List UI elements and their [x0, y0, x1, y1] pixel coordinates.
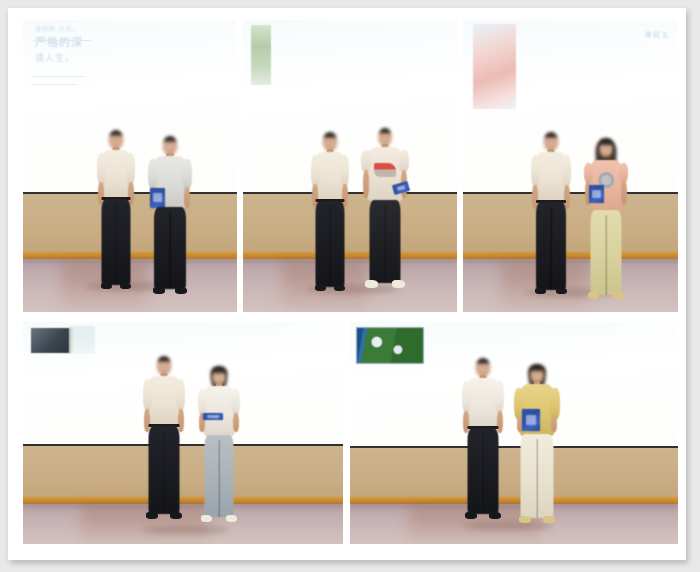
presenter: [95, 130, 137, 295]
forearm-right: [551, 417, 557, 432]
recipient: [147, 136, 193, 296]
slide-rule-1: [33, 40, 91, 41]
photo-5[interactable]: [350, 322, 678, 544]
certificate: [589, 185, 604, 203]
shoe-right: [613, 292, 624, 299]
arm-left: [143, 379, 152, 411]
shoe-left: [153, 287, 165, 294]
arm-right: [399, 150, 409, 172]
arm-right: [176, 379, 185, 411]
slide-text-line-1: 深刻的 方式。: [35, 26, 83, 35]
shoe-left: [101, 283, 112, 289]
trousers: [154, 207, 186, 289]
shoe-right: [556, 288, 567, 294]
arm-right: [495, 381, 504, 413]
sneaker-left: [365, 280, 378, 288]
slide-text-line-2: 严格的深: [35, 35, 83, 52]
forearm-right: [621, 181, 627, 205]
certificate: [522, 409, 540, 431]
photo-3[interactable]: 课程五: [463, 20, 678, 312]
forearm-right: [178, 409, 184, 432]
arm-left: [584, 163, 593, 183]
trousers: [536, 202, 566, 290]
shoe-right: [226, 515, 237, 522]
arm-right: [562, 155, 571, 187]
certificate: [150, 188, 165, 208]
gallery-row-top: 深刻的 方式。 严格的深 请人生。: [23, 20, 678, 312]
forearm-left: [463, 411, 469, 433]
shoe-left: [535, 288, 546, 294]
arm-left: [462, 381, 471, 413]
trousers: [149, 426, 180, 514]
certificate: [203, 413, 223, 420]
arm-right: [340, 155, 349, 187]
photo-gallery-card: 深刻的 方式。 严格的深 请人生。: [8, 8, 686, 560]
slide-thumbnail-pale: [69, 326, 95, 354]
arm-right: [182, 159, 192, 190]
photo-4[interactable]: [23, 322, 343, 544]
slide-rule-3: [33, 84, 77, 85]
shoe-right: [170, 512, 182, 519]
arm-left: [531, 155, 540, 187]
trousers: [468, 428, 499, 514]
arm-left: [311, 155, 320, 187]
gallery-row-bottom: [23, 322, 678, 544]
floor-shadow: [141, 526, 229, 534]
cargo-trousers: [591, 210, 622, 295]
shoe-left: [146, 512, 158, 519]
shoe-right: [120, 283, 131, 289]
wide-leg-trousers: [521, 434, 554, 518]
slide-thumbnail-green: [251, 25, 271, 85]
arm-right: [126, 153, 135, 185]
nike-logo-icon: [374, 163, 397, 177]
shoe-right: [175, 287, 187, 294]
sneaker-right: [392, 280, 405, 288]
photo-2[interactable]: [243, 20, 457, 312]
shoe-left: [519, 516, 531, 523]
slide-text-block: 深刻的 方式。 严格的深 请人生。: [35, 26, 83, 65]
arm-right: [550, 388, 560, 420]
shoe-left: [315, 285, 326, 291]
jeans: [205, 435, 234, 517]
shoe-right: [334, 285, 345, 291]
shoe-left: [201, 515, 212, 522]
shoe-left: [588, 292, 599, 299]
arm-left: [198, 389, 207, 415]
slide-thumbnail-flowers: [356, 327, 424, 364]
photo-1[interactable]: 深刻的 方式。 严格的深 请人生。: [23, 20, 237, 312]
arm-right: [231, 389, 240, 415]
trousers: [102, 199, 131, 285]
slide-text-line-3: 请人生。: [35, 52, 83, 66]
slide-corner-text: 课程五: [645, 30, 671, 40]
forearm-right: [233, 413, 239, 432]
shoe-right: [543, 516, 555, 523]
presenter: [529, 132, 573, 300]
slide-rule-2: [33, 76, 85, 77]
torso-blouse: [203, 386, 235, 436]
arm-right: [619, 163, 628, 183]
slide-thumbnail-dark: [31, 328, 73, 353]
recipient: [583, 138, 629, 301]
recipient: [514, 364, 560, 524]
arm-left: [148, 159, 158, 190]
joggers: [370, 200, 401, 283]
presenter: [309, 132, 351, 297]
shoe-left: [465, 512, 477, 519]
recipient: [197, 366, 241, 522]
slide-thumbnail-pink: [473, 24, 516, 109]
head: [600, 140, 613, 157]
arm-left: [361, 150, 371, 172]
presenter: [141, 356, 187, 524]
arm-left: [97, 153, 106, 185]
shoe-right: [489, 512, 501, 519]
recipient: [361, 128, 409, 300]
forearm-right: [497, 411, 503, 433]
trousers: [316, 201, 345, 287]
presenter: [460, 358, 506, 524]
forearm-right: [184, 187, 190, 208]
forearm-left: [363, 170, 369, 198]
